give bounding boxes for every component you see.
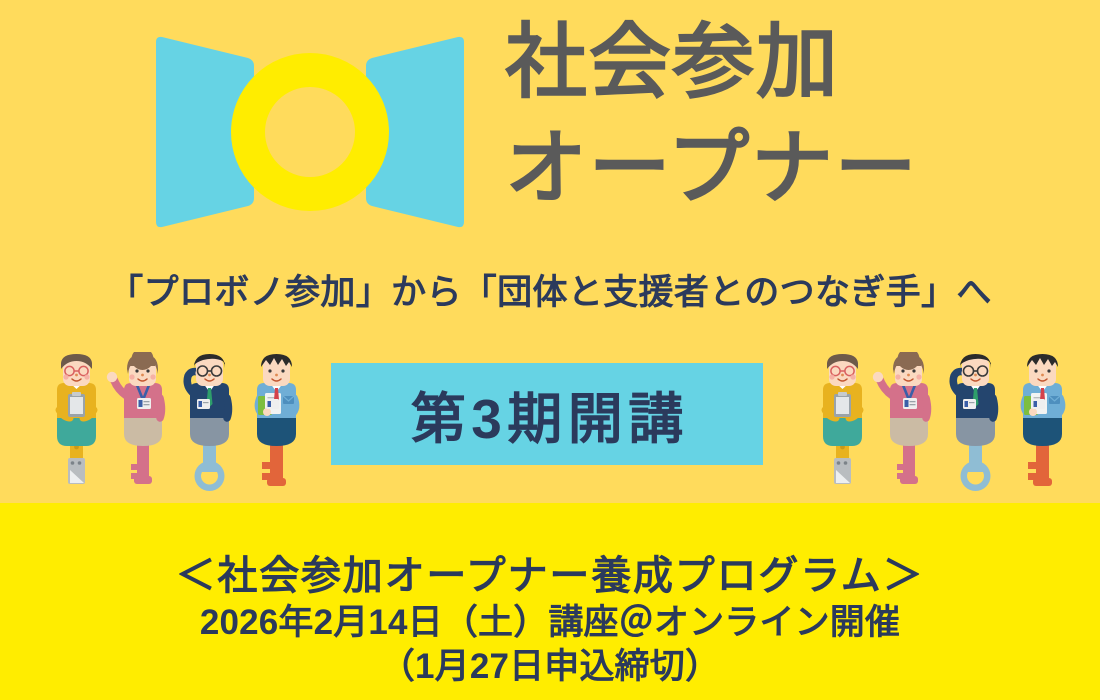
tagline: 「プロボノ参加」から「団体と支援者とのつなぎ手」へ [0, 264, 1100, 315]
event-details: ＜社会参加オープナー養成プログラム＞ 2026年2月14日（土）講座＠オンライン… [0, 552, 1100, 688]
term-badge-label: 第3期開講 [405, 374, 689, 454]
event-date-line: 2026年2月14日（土）講座＠オンライン開催 [0, 601, 1100, 645]
logo-title-line-1: 社会参加 [505, 22, 975, 104]
program-title: ＜社会参加オープナー養成プログラム＞ [0, 552, 1100, 601]
logo-title-line-2: オープナー [505, 128, 975, 210]
key-people-illustration-left [24, 352, 324, 492]
application-deadline: （1月27日申込締切） [0, 645, 1100, 689]
term-badge: 第3期開講 [331, 363, 763, 465]
promotional-banner: 社会参加 オープナー 「プロボノ参加」から「団体と支援者とのつなぎ手」へ 第3期… [0, 0, 1100, 700]
key-people-illustration-right [790, 352, 1090, 492]
logo-wordmark: 社会参加 オープナー [505, 22, 975, 210]
open-door-logo-icon [150, 32, 470, 232]
